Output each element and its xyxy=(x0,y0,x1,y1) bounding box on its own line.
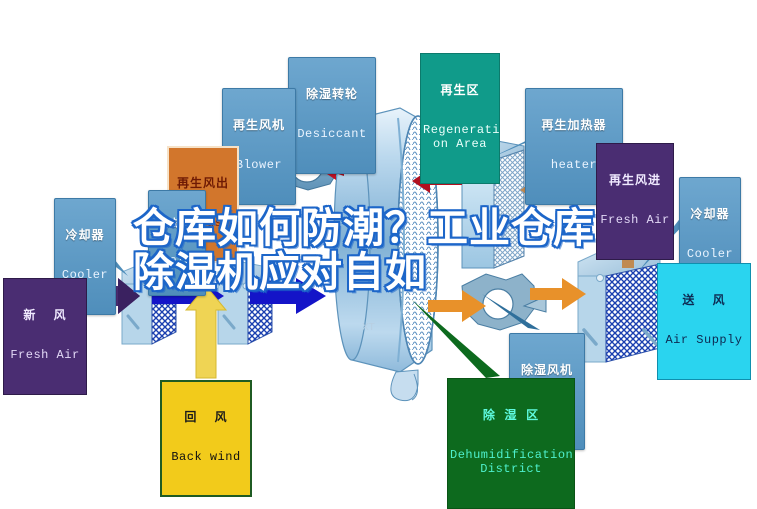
page-title: 仓库如何防潮？工业仓库 除湿机应对自如 xyxy=(133,206,633,294)
label-back-wind-en: Back wind xyxy=(164,451,248,464)
label-dehumid-district-en: Dehumidification District xyxy=(450,449,572,476)
label-desiccant-en: Desiccant xyxy=(291,128,373,141)
label-dehumid-district-cn: 除 湿 区 xyxy=(450,409,572,422)
label-air-supply: 送 风 Air Supply xyxy=(657,263,751,380)
label-cooler-right-en: Cooler xyxy=(682,248,738,261)
title-line-2: 除湿机应对自如 xyxy=(133,250,633,294)
label-desiccant: 除湿转轮 Desiccant xyxy=(288,57,376,174)
label-fresh-air: 新 风 Fresh Air xyxy=(3,278,87,395)
label-dehumidification-district: 除 湿 区 Dehumidification District xyxy=(447,378,575,509)
label-desiccant-cn: 除湿转轮 xyxy=(291,88,373,101)
dehumidifier-schematic-image: XT xyxy=(0,0,757,488)
label-regen-blower-cn: 再生风机 xyxy=(225,119,293,132)
label-air-supply-cn: 送 风 xyxy=(660,294,748,307)
label-air-supply-en: Air Supply xyxy=(660,334,748,347)
label-regen-fresh-air-cn: 再生风进 xyxy=(599,174,671,187)
svg-text:XT: XT xyxy=(362,322,375,333)
label-exhaust-cn: 再生风出 xyxy=(171,177,235,190)
label-fresh-air-en: Fresh Air xyxy=(6,349,84,362)
label-cooler-right-cn: 冷却器 xyxy=(682,208,738,221)
label-regen-area-en: Regenerati on Area xyxy=(423,124,497,151)
title-line-1: 仓库如何防潮？工业仓库 xyxy=(133,206,633,250)
label-cooler-left-cn: 冷却器 xyxy=(57,229,113,242)
label-regen-area-cn: 再生区 xyxy=(423,84,497,97)
label-back-wind: 回 风 Back wind xyxy=(160,380,252,497)
label-regeneration-area: 再生区 Regenerati on Area xyxy=(420,53,500,184)
label-dehumid-blower-cn: 除湿风机 xyxy=(512,364,582,377)
label-back-wind-cn: 回 风 xyxy=(164,411,248,424)
label-heater-cn: 再生加热器 xyxy=(528,119,620,132)
label-fresh-air-cn: 新 风 xyxy=(6,309,84,322)
